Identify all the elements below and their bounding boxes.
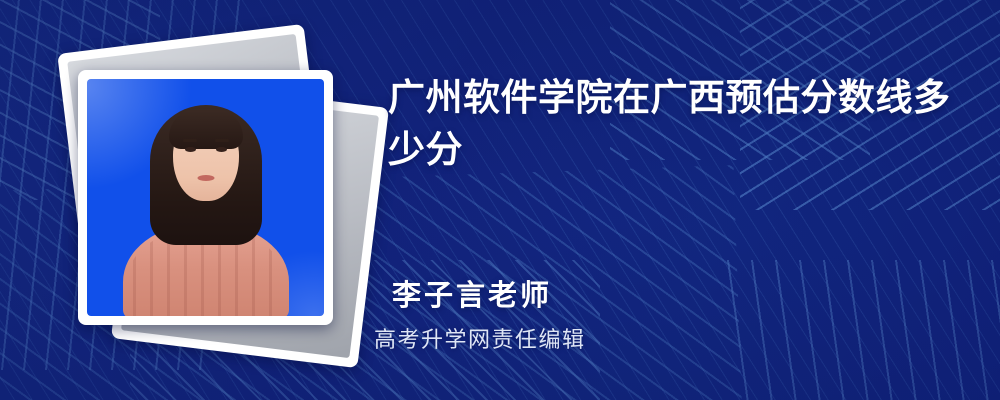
portrait-eyebrow-left	[183, 139, 197, 142]
portrait-eye-left	[185, 147, 196, 152]
portrait-illustration	[87, 79, 324, 316]
author-name: 李子言老师	[392, 272, 552, 314]
headline-block: 广州软件学院在广西预估分数线多少分	[388, 72, 968, 176]
author-portrait-photo	[87, 79, 324, 316]
portrait-eye-right	[216, 147, 227, 152]
photo-stack	[60, 38, 360, 358]
page-title: 广州软件学院在广西预估分数线多少分	[388, 72, 968, 176]
author-role: 高考升学网责任编辑	[374, 322, 586, 354]
portrait-hair-top	[169, 109, 243, 149]
photo-frame-front	[78, 70, 333, 325]
portrait-mouth	[197, 175, 214, 181]
article-cover-banner: 广州软件学院在广西预估分数线多少分 李子言老师 高考升学网责任编辑	[0, 0, 1000, 400]
portrait-eyebrow-right	[215, 139, 229, 142]
